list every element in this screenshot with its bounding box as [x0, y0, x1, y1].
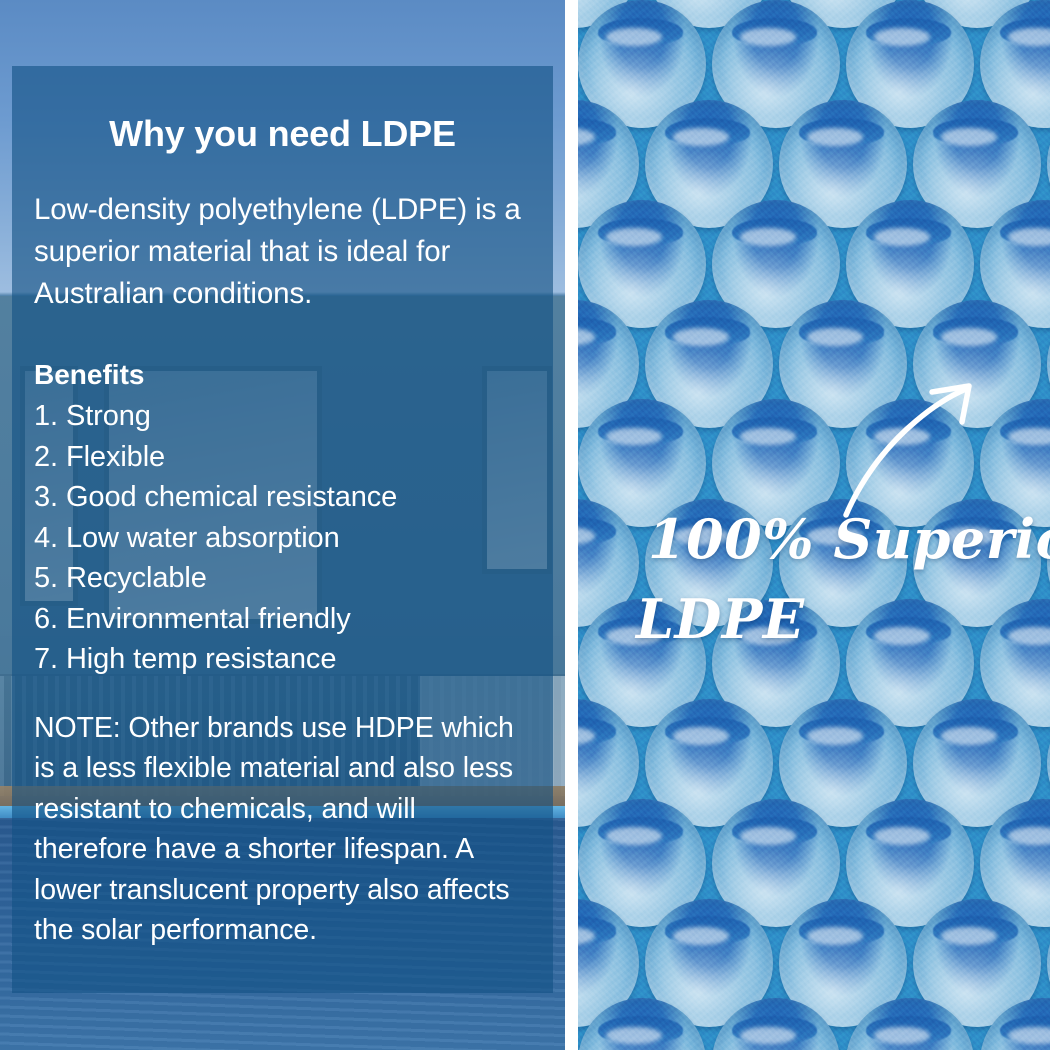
infographic-canvas: Why you need LDPE Low-density polyethyle… — [0, 0, 1050, 1050]
bubble-gloss — [673, 927, 729, 945]
list-item: Environmental friendly — [34, 599, 531, 640]
list-item: Recyclable — [34, 558, 531, 599]
callout-line-1: 100% Superior — [648, 500, 1050, 578]
benefits-heading: Benefits — [12, 315, 553, 392]
bubble-gloss — [606, 228, 662, 246]
intro-paragraph: Low-density polyethylene (LDPE) is a sup… — [12, 155, 553, 315]
bubble-gloss — [941, 328, 997, 346]
bubble-gloss — [941, 727, 997, 745]
list-item: Strong — [34, 396, 531, 437]
bubble-gloss — [874, 827, 930, 845]
list-item: Low water absorption — [34, 518, 531, 559]
bubble-gloss — [1008, 428, 1050, 446]
right-product-photo: 100% Superior LDPE — [578, 0, 1050, 1050]
panel-divider — [565, 0, 578, 1050]
bubble-gloss — [807, 328, 863, 346]
bubble-gloss — [807, 727, 863, 745]
list-item: High temp resistance — [34, 639, 531, 680]
info-card: Why you need LDPE Low-density polyethyle… — [12, 66, 553, 993]
bubble-gloss — [807, 927, 863, 945]
left-info-panel: Why you need LDPE Low-density polyethyle… — [0, 0, 565, 1050]
bubble-gloss — [807, 128, 863, 146]
bubble-gloss — [1008, 1027, 1050, 1045]
bubble-gloss — [941, 128, 997, 146]
bubble-gloss — [673, 727, 729, 745]
bubble-gloss — [673, 328, 729, 346]
list-item: Flexible — [34, 437, 531, 478]
list-item: Good chemical resistance — [34, 477, 531, 518]
page-title: Why you need LDPE — [12, 66, 553, 155]
benefits-list: Strong Flexible Good chemical resistance… — [12, 392, 553, 680]
note-paragraph: NOTE: Other brands use HDPE which is a l… — [12, 680, 553, 951]
callout-line-2: LDPE — [636, 580, 805, 658]
bubble-gloss — [740, 228, 796, 246]
bubble-gloss — [673, 128, 729, 146]
bubble-gloss — [1008, 827, 1050, 845]
bubble-gloss — [874, 228, 930, 246]
bubble-gloss — [941, 927, 997, 945]
bubble-gloss — [606, 827, 662, 845]
bubble-gloss — [740, 827, 796, 845]
bubble-gloss — [1008, 228, 1050, 246]
